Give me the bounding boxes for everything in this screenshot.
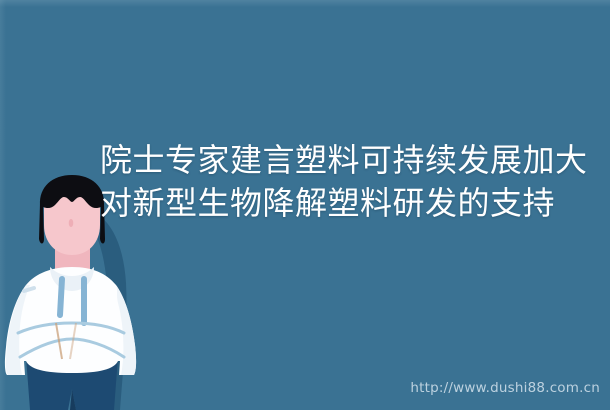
- poster-canvas: 院士专家建言塑料可持续发展加大 对新型生物降解塑料研发的支持 http://ww…: [0, 0, 610, 410]
- watermark-url: http://www.dushi88.com.cn: [410, 380, 600, 396]
- headline-line-2: 对新型生物降解塑料研发的支持: [100, 182, 600, 225]
- headline-line-1: 院士专家建言塑料可持续发展加大: [100, 139, 600, 182]
- page-title: 院士专家建言塑料可持续发展加大 对新型生物降解塑料研发的支持: [100, 139, 600, 225]
